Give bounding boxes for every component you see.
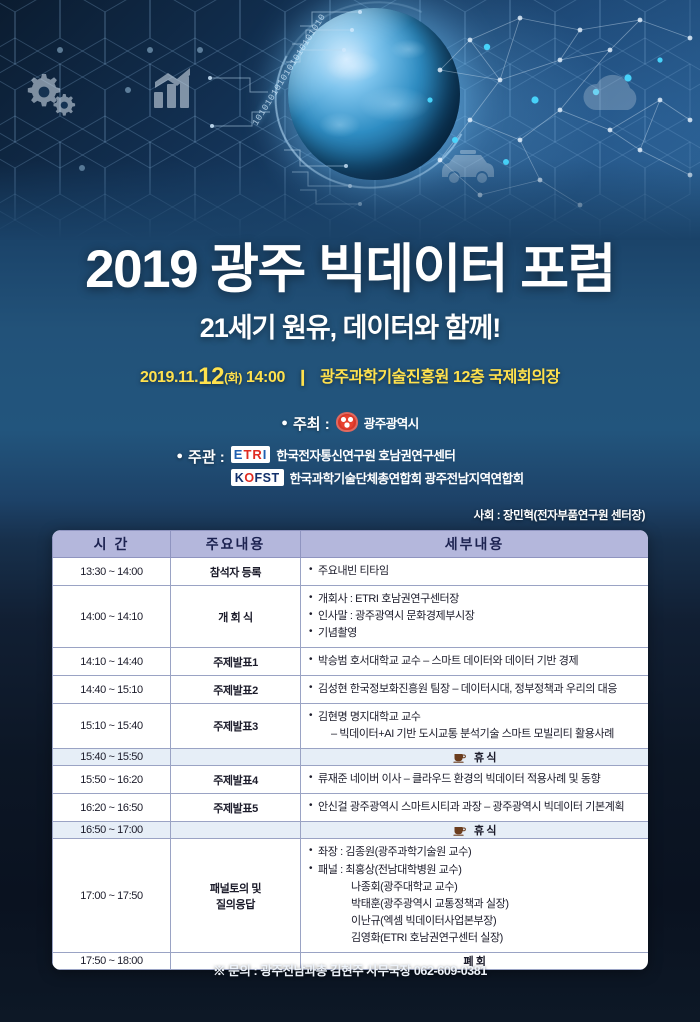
detail-line: 좌장 : 김종원(광주과학기술원 교수) xyxy=(309,844,642,861)
table-row: 17:00 ~ 17:50패널토의 및질의응답좌장 : 김종원(광주과학기술원 … xyxy=(53,839,649,952)
table-header-row: 시 간 주요내용 세부내용 xyxy=(53,531,649,558)
cell-time: 15:40 ~ 15:50 xyxy=(53,749,171,766)
organizer-label-text: 주관 : xyxy=(188,449,225,466)
detail-line: 류재준 네이버 이사 – 클라우드 환경의 빅데이터 적용사례 및 동향 xyxy=(309,771,642,788)
detail-line: 박태훈(광주광역시 교통정책과 실장) xyxy=(309,896,642,913)
cell-topic: 주제발표3 xyxy=(171,704,301,749)
schedule-body: 13:30 ~ 14:00참석자 등록주요내빈 티타임14:00 ~ 14:10… xyxy=(53,558,649,970)
datetime-venue-line: 2019.11.12(화) 14:00 ❙ 광주과학기술진흥원 12층 국제회의… xyxy=(0,363,700,391)
column-header-topic: 주요내용 xyxy=(171,531,301,558)
mc-line: 사회 : 장민혁(전자부품연구원 센터장) xyxy=(474,507,645,523)
table-row: 16:20 ~ 16:50주제발표5안신걸 광주광역시 스마트시티과 과장 – … xyxy=(53,794,649,822)
cell-detail: 박승범 호서대학교 교수 – 스마트 데이터와 데이터 기반 경제 xyxy=(301,648,649,676)
cell-time: 14:40 ~ 15:10 xyxy=(53,676,171,704)
host-name: 광주광역시 xyxy=(364,413,419,432)
cell-topic: 주제발표5 xyxy=(171,794,301,822)
cell-topic xyxy=(171,749,301,766)
column-header-detail: 세부내용 xyxy=(301,531,649,558)
cell-topic: 주제발표1 xyxy=(171,648,301,676)
cell-break: 휴 식 xyxy=(301,749,649,766)
coffee-cup-icon xyxy=(453,824,466,836)
table-row: 14:00 ~ 14:10개 회 식개회사 : ETRI 호남권연구센터장인사말… xyxy=(53,586,649,648)
detail-line: – 빅데이터+AI 기반 도시교통 분석기술 스마트 모빌리티 활용사례 xyxy=(309,726,642,743)
page-title: 2019 광주 빅데이터 포럼 xyxy=(0,242,700,298)
table-row: 16:50 ~ 17:00휴 식 xyxy=(53,822,649,839)
detail-line: 김현명 명지대학교 교수 xyxy=(309,709,642,726)
schedule-table-wrapper: 시 간 주요내용 세부내용 13:30 ~ 14:00참석자 등록주요내빈 티타… xyxy=(52,530,648,970)
detail-line: 패널 : 최홍상(전남대학병원 교수) xyxy=(309,862,642,879)
detail-line: 안신걸 광주광역시 스마트시티과 과장 – 광주광역시 빅데이터 기본계획 xyxy=(309,799,642,816)
table-row: 15:40 ~ 15:50휴 식 xyxy=(53,749,649,766)
cell-time: 16:20 ~ 16:50 xyxy=(53,794,171,822)
host-label-text: 주최 : xyxy=(293,416,330,433)
cell-topic: 참석자 등록 xyxy=(171,558,301,586)
organizer-line-kofst: KOFST 한국과학기술단체총연합회 광주전남지역연합회 xyxy=(231,468,524,487)
table-row: 15:50 ~ 16:20주제발표4류재준 네이버 이사 – 클라우드 환경의 … xyxy=(53,766,649,794)
detail-line: 김영화(ETRI 호남권연구센터 실장) xyxy=(309,930,642,947)
etri-logo: ETRI xyxy=(231,446,271,463)
host-row: ●주최 : 광주광역시 xyxy=(0,412,700,434)
date-prefix: 2019.11. xyxy=(140,369,198,386)
organizer-label: ●주관 : xyxy=(176,445,224,467)
column-header-time: 시 간 xyxy=(53,531,171,558)
page-subtitle: 21세기 원유, 데이터와 함께! xyxy=(0,306,700,345)
cell-topic: 패널토의 및질의응답 xyxy=(171,839,301,952)
schedule-table: 시 간 주요내용 세부내용 13:30 ~ 14:00참석자 등록주요내빈 티타… xyxy=(52,530,648,970)
organizer-name-kofst: 한국과학기술단체총연합회 광주전남지역연합회 xyxy=(290,468,524,487)
title-block: 2019 광주 빅데이터 포럼 21세기 원유, 데이터와 함께! xyxy=(0,242,700,345)
gwangju-city-logo xyxy=(336,412,358,432)
cell-detail: 개회사 : ETRI 호남권연구센터장인사말 : 광주광역시 문화경제부시장기념… xyxy=(301,586,649,648)
cell-topic: 주제발표2 xyxy=(171,676,301,704)
kofst-logo: KOFST xyxy=(231,469,284,486)
detail-line: 이난규(엑셈 빅데이터사업본부장) xyxy=(309,913,642,930)
date-dayofweek: (화) xyxy=(224,371,242,385)
detail-line: 기념촬영 xyxy=(309,625,642,642)
table-row: 13:30 ~ 14:00참석자 등록주요내빈 티타임 xyxy=(53,558,649,586)
organizer-block: ●주최 : 광주광역시 ●주관 : ETRI 한국전자통신연구원 호남권연구센터… xyxy=(0,412,700,487)
host-line: 광주광역시 xyxy=(336,412,419,432)
cell-topic: 주제발표4 xyxy=(171,766,301,794)
table-row: 14:40 ~ 15:10주제발표2김성현 한국정보화진흥원 팀장 – 데이터시… xyxy=(53,676,649,704)
cell-break: 휴 식 xyxy=(301,822,649,839)
coffee-cup-icon xyxy=(453,751,466,763)
gear-icon xyxy=(22,68,80,120)
cell-time: 17:00 ~ 17:50 xyxy=(53,839,171,952)
detail-line: 주요내빈 티타임 xyxy=(309,563,642,580)
hero-graphic: 1010101010101010101010 xyxy=(0,0,700,240)
cell-detail: 류재준 네이버 이사 – 클라우드 환경의 빅데이터 적용사례 및 동향 xyxy=(301,766,649,794)
detail-line: 개회사 : ETRI 호남권연구센터장 xyxy=(309,591,642,608)
bar-chart-icon xyxy=(152,68,198,110)
table-row: 14:10 ~ 14:40주제발표1박승범 호서대학교 교수 – 스마트 데이터… xyxy=(53,648,649,676)
detail-line: 박승범 호서대학교 교수 – 스마트 데이터와 데이터 기반 경제 xyxy=(309,653,642,670)
cell-time: 15:10 ~ 15:40 xyxy=(53,704,171,749)
date-day: 12 xyxy=(198,363,224,390)
cell-detail: 김성현 한국정보화진흥원 팀장 – 데이터시대, 정부정책과 우리의 대응 xyxy=(301,676,649,704)
hero-fade xyxy=(0,160,700,240)
venue: 광주과학기술진흥원 12층 국제회의장 xyxy=(320,369,560,386)
detail-line: 인사말 : 광주광역시 문화경제부시장 xyxy=(309,608,642,625)
cell-time: 14:00 ~ 14:10 xyxy=(53,586,171,648)
contact-footer: ※ 문의 : 광주전남과총 김현주 사무국장 062-609-0381 xyxy=(0,960,700,979)
cell-time: 14:10 ~ 14:40 xyxy=(53,648,171,676)
detail-line: 나종회(광주대학교 교수) xyxy=(309,879,642,896)
detail-line: 김성현 한국정보화진흥원 팀장 – 데이터시대, 정부정책과 우리의 대응 xyxy=(309,681,642,698)
cell-detail: 김현명 명지대학교 교수– 빅데이터+AI 기반 도시교통 분석기술 스마트 모… xyxy=(301,704,649,749)
cell-detail: 안신걸 광주광역시 스마트시티과 과장 – 광주광역시 빅데이터 기본계획 xyxy=(301,794,649,822)
organizer-line-etri: ETRI 한국전자통신연구원 호남권연구센터 xyxy=(231,445,524,464)
cell-time: 15:50 ~ 16:20 xyxy=(53,766,171,794)
poster-root: 1010101010101010101010 xyxy=(0,0,700,1022)
table-row: 15:10 ~ 15:40주제발표3김현명 명지대학교 교수– 빅데이터+AI … xyxy=(53,704,649,749)
organizer-row: ●주관 : ETRI 한국전자통신연구원 호남권연구센터 KOFST 한국과학기… xyxy=(0,445,700,487)
bullet-icon: ● xyxy=(176,450,183,462)
event-time: 14:00 xyxy=(246,369,285,386)
cell-time: 16:50 ~ 17:00 xyxy=(53,822,171,839)
cell-topic xyxy=(171,822,301,839)
organizer-name-etri: 한국전자통신연구원 호남권연구센터 xyxy=(276,445,455,464)
bullet-icon: ● xyxy=(281,417,288,429)
cell-detail: 주요내빈 티타임 xyxy=(301,558,649,586)
cell-detail: 좌장 : 김종원(광주과학기술원 교수)패널 : 최홍상(전남대학병원 교수)나… xyxy=(301,839,649,952)
cell-time: 13:30 ~ 14:00 xyxy=(53,558,171,586)
cell-topic: 개 회 식 xyxy=(171,586,301,648)
separator-icon: ❙ xyxy=(296,369,309,386)
host-label: ●주최 : xyxy=(281,412,329,434)
cloud-icon xyxy=(578,72,650,114)
